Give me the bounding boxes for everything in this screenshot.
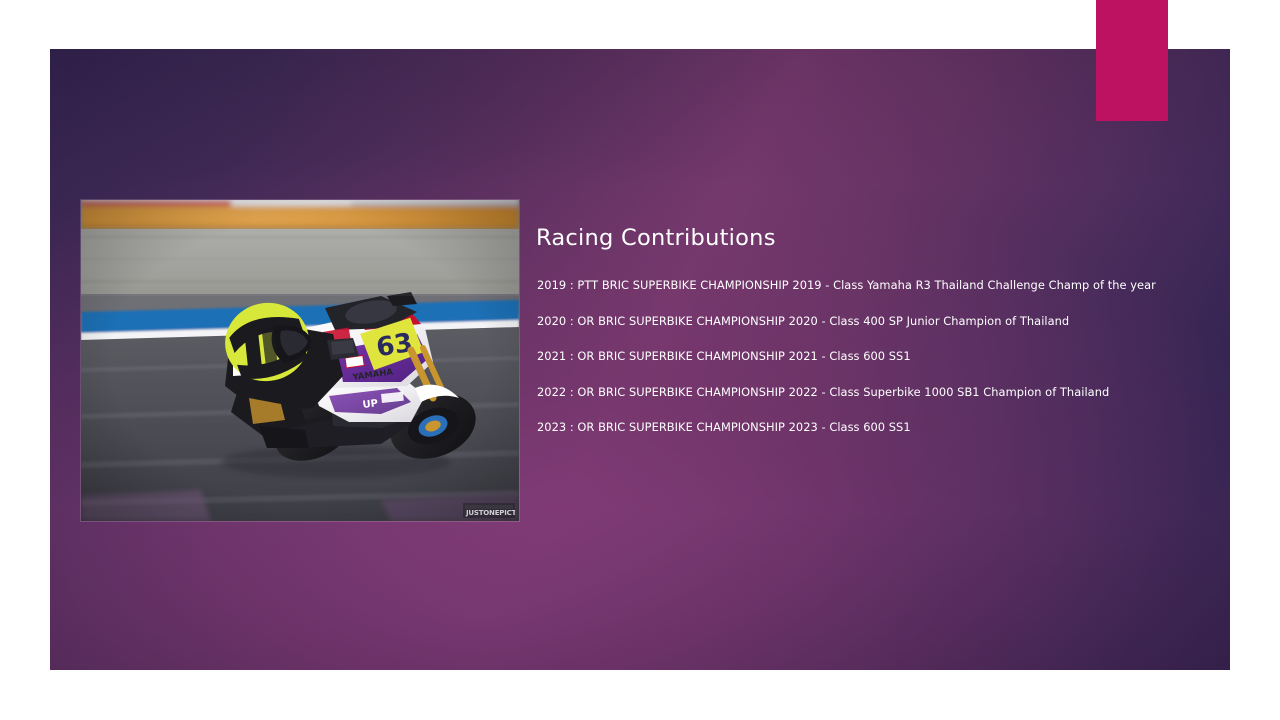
watermark-text: JUSTONEPICTURE bbox=[465, 509, 515, 517]
slide-root: UP 63 YAMAHA bbox=[0, 0, 1280, 720]
list-item: 2019 : PTT BRIC SUPERBIKE CHAMPIONSHIP 2… bbox=[537, 276, 1197, 295]
list-item: 2020 : OR BRIC SUPERBIKE CHAMPIONSHIP 20… bbox=[537, 312, 1197, 331]
photo-watermark: JUSTONEPICTURE bbox=[463, 503, 515, 518]
racing-motorcycle-photo: UP 63 YAMAHA bbox=[81, 200, 519, 521]
list-item: 2023 : OR BRIC SUPERBIKE CHAMPIONSHIP 20… bbox=[537, 418, 1197, 437]
accent-bar bbox=[1096, 0, 1168, 121]
list-item: 2022 : OR BRIC SUPERBIKE CHAMPIONSHIP 20… bbox=[537, 383, 1197, 402]
page-title: Racing Contributions bbox=[536, 224, 1196, 252]
photo-illustration: UP 63 YAMAHA bbox=[81, 200, 519, 521]
achievements-list: 2019 : PTT BRIC SUPERBIKE CHAMPIONSHIP 2… bbox=[537, 276, 1197, 437]
list-item: 2021 : OR BRIC SUPERBIKE CHAMPIONSHIP 20… bbox=[537, 347, 1197, 366]
content-text-block: Racing Contributions 2019 : PTT BRIC SUP… bbox=[536, 224, 1196, 252]
